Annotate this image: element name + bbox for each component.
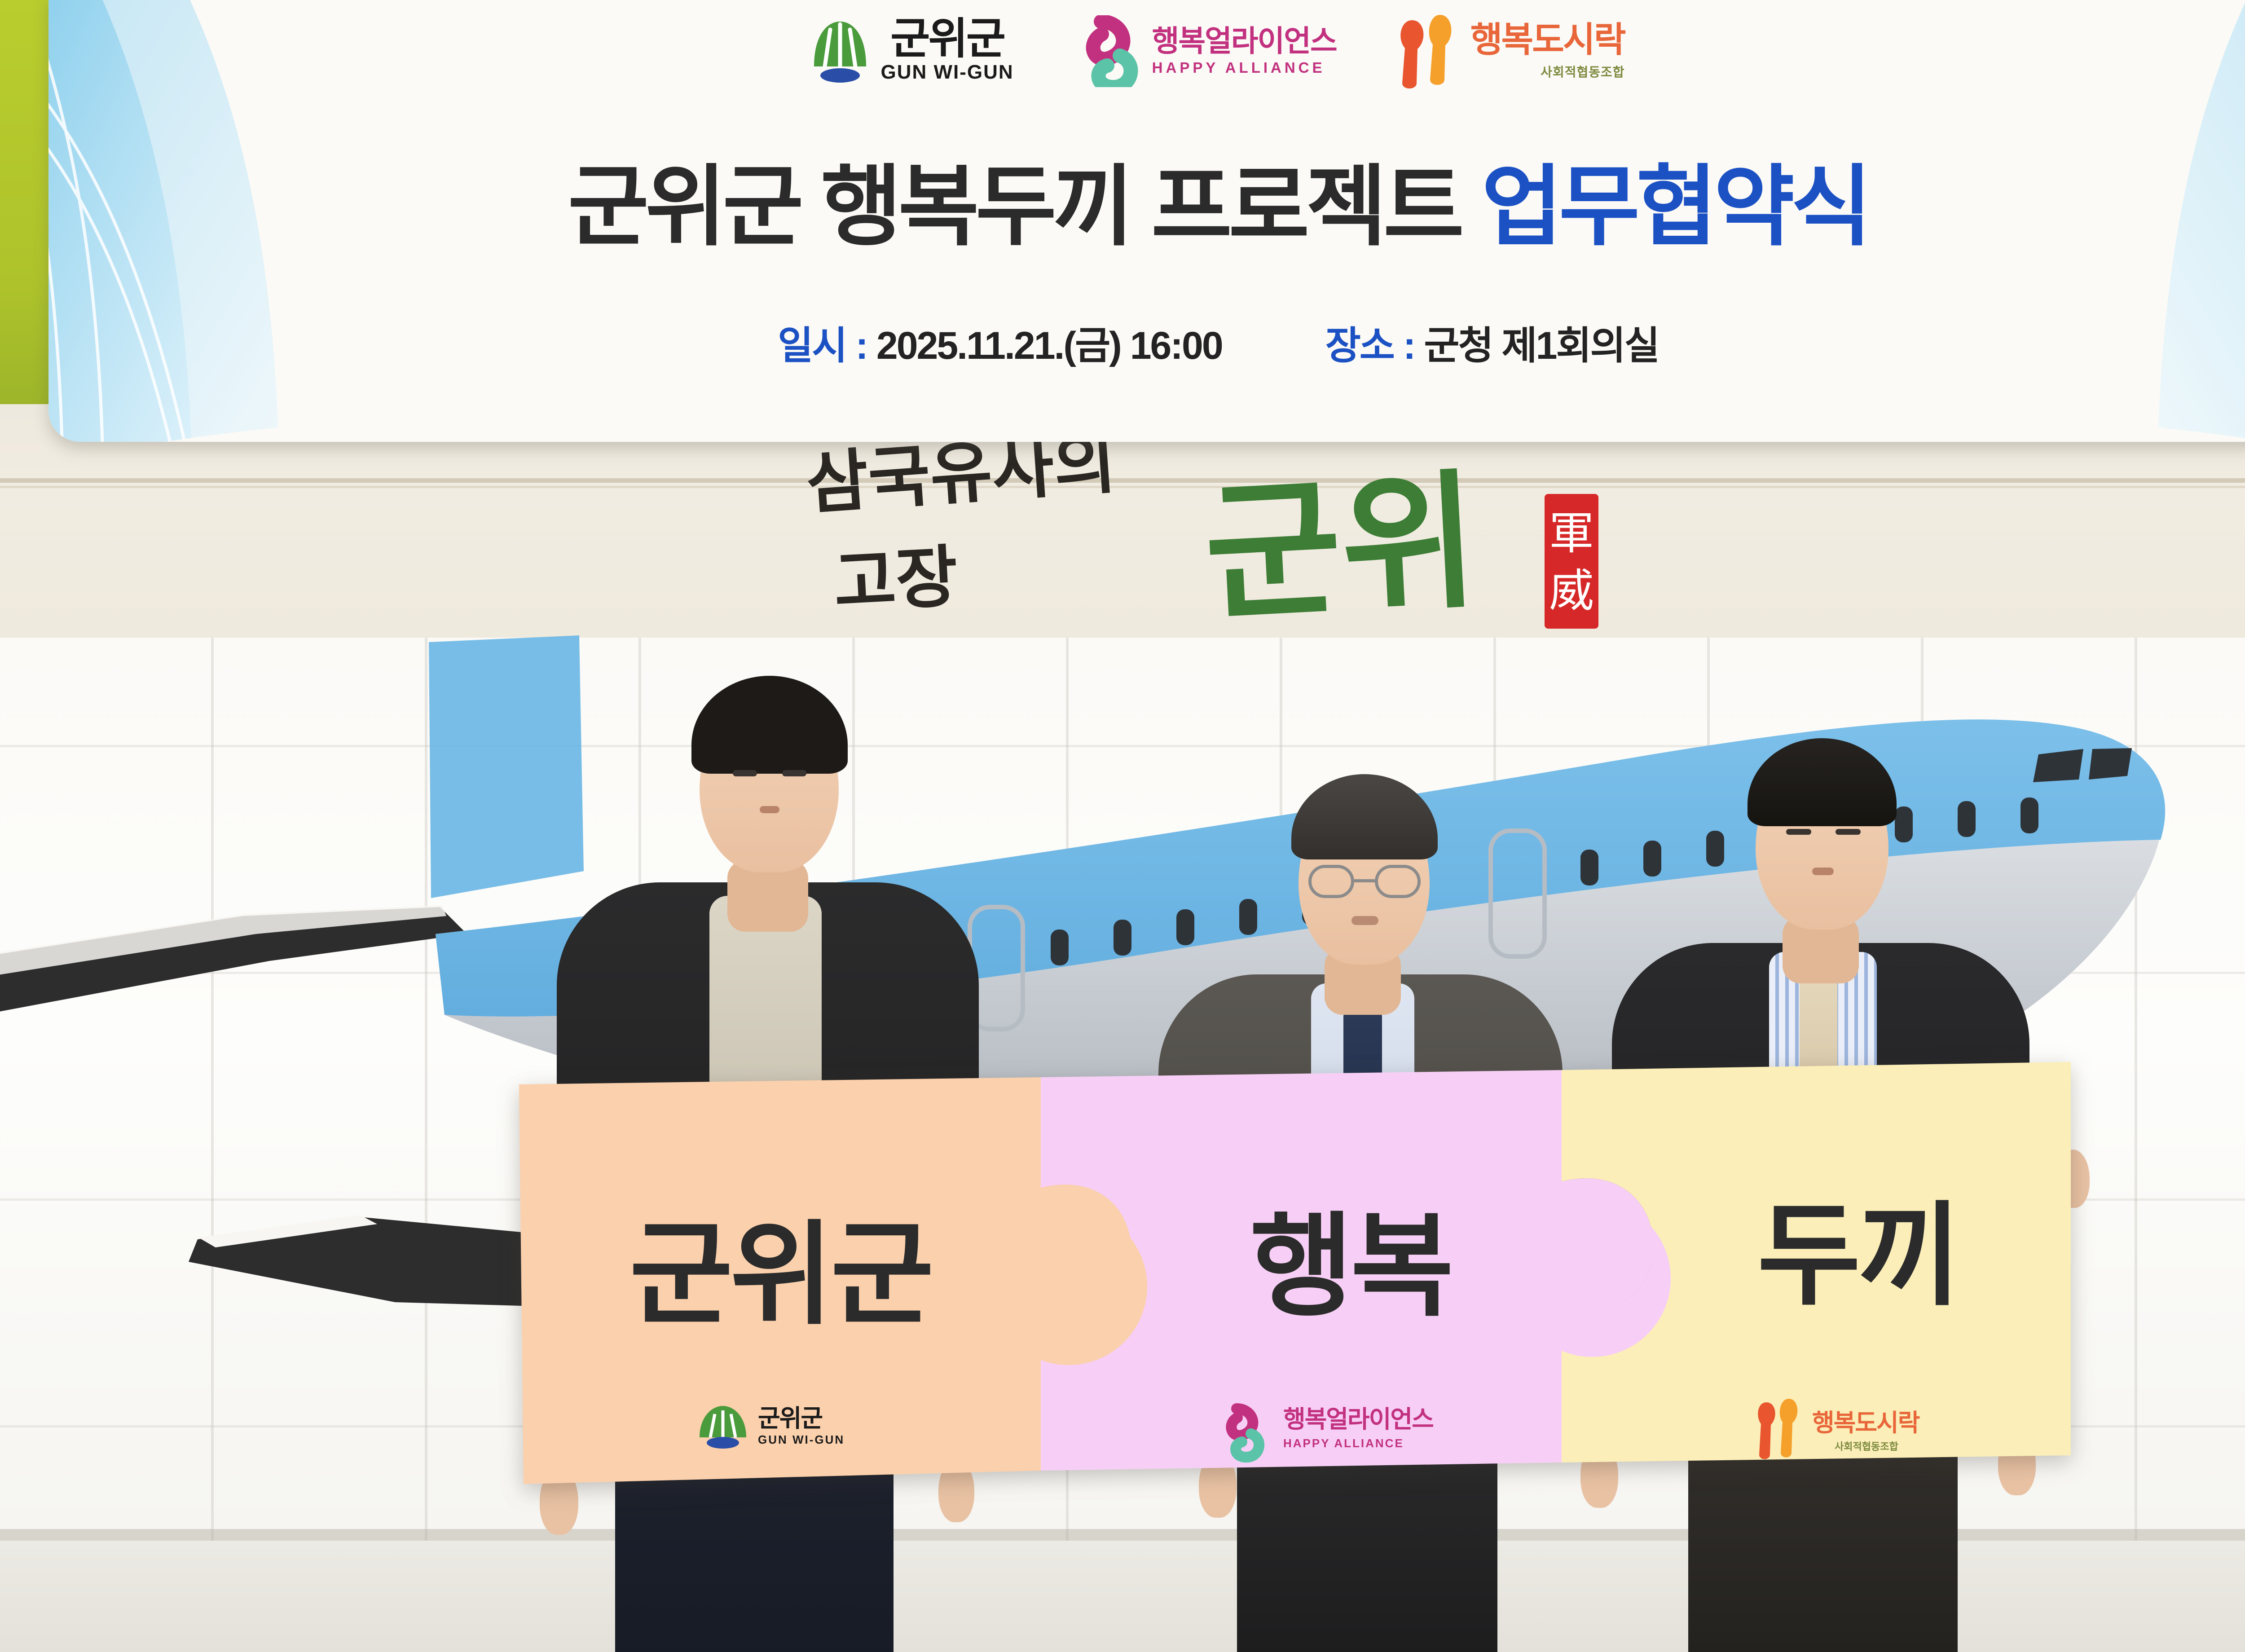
puzzle-word-1: 군위군 <box>629 1212 931 1337</box>
logo-happy-alliance: 행복얼라이언스 HAPPY ALLIANCE <box>1073 15 1337 87</box>
wall-calligraphy-art: 삼국유사의 고장 군위 軍 威 <box>804 427 1657 638</box>
glasses-icon <box>1308 865 1421 898</box>
banner-meta-venue-value: 군청 제1회의실 <box>1424 324 1658 367</box>
logo-alliance-en: HAPPY ALLIANCE <box>1152 59 1325 76</box>
puzzle-sign: 군위군 행복 두끼 군위군 GUN WI-GUN 행복얼라이언스 <box>515 1075 2073 1493</box>
svg-text:고장: 고장 <box>832 537 960 622</box>
puzzle-mini-logo-1-en: GUN WI-GUN <box>758 1433 845 1446</box>
banner-meta-venue: 장소 : 군청 제1회의실 <box>1325 314 1659 370</box>
svg-text:군위: 군위 <box>1201 453 1482 638</box>
puzzle-word-2: 행복 <box>1250 1204 1451 1329</box>
puzzle-word-3: 두끼 <box>1757 1193 1959 1318</box>
logo-dosirak-kr: 행복도시락 <box>1470 22 1625 57</box>
banner-title: 군위군 행복두끼 프로젝트 업무협약식 <box>48 136 2245 263</box>
event-backdrop-banner: 군위군 GUN WI-GUN 행복얼라이언스 HAPPY ALLIANCE <box>48 0 2245 442</box>
person-right-hair <box>1748 738 1897 826</box>
accent-wall-left <box>0 0 53 404</box>
logo-alliance-kr: 행복얼라이언스 <box>1152 26 1337 56</box>
logo-dosirak-sub: 사회적협동조합 <box>1541 62 1624 80</box>
person-center-hair <box>1291 774 1438 859</box>
banner-title-main: 군위군 행복두끼 프로젝트 <box>568 158 1461 256</box>
banner-logo-row: 군위군 GUN WI-GUN 행복얼라이언스 HAPPY ALLIANCE <box>48 3 2245 99</box>
puzzle-mini-logo-2-en: HAPPY ALLIANCE <box>1283 1436 1404 1450</box>
banner-meta-datetime: 일시 : 2025.11.21.(금) 16:00 <box>778 314 1222 370</box>
photo-scene: 삼국유사의 고장 군위 軍 威 <box>0 0 2245 1652</box>
banner-meta-datetime-label: 일시 : <box>778 324 867 367</box>
logo-gunwi-kr: 군위군 <box>890 18 1004 59</box>
logo-gunwi-gun: 군위군 GUN WI-GUN <box>811 18 1013 84</box>
person-left-hair <box>691 676 848 774</box>
puzzle-mini-logo-2-kr: 행복얼라이언스 <box>1283 1406 1433 1433</box>
banner-meta-venue-label: 장소 : <box>1325 324 1415 367</box>
banner-title-accent: 업무협약식 <box>1482 158 1869 256</box>
green-sprout-icon <box>811 20 869 83</box>
banner-bottom-curve <box>48 388 2245 442</box>
banner-meta-datetime-value: 2025.11.21.(금) 16:00 <box>876 324 1222 367</box>
puzzle-mini-logo-3-kr: 행복도시락 <box>1812 1410 1920 1436</box>
puzzle-mini-logo-3-sub: 사회적협동조합 <box>1835 1441 1898 1452</box>
puzzle-mini-logo-1-kr: 군위군 <box>758 1405 822 1432</box>
seal-stamp: 軍 威 <box>1545 494 1598 629</box>
spoon-fork-icon <box>1396 13 1459 89</box>
logo-happy-dosirak: 행복도시락 사회적협동조합 <box>1396 13 1625 89</box>
logo-gunwi-en: GUN WI-GUN <box>880 61 1013 84</box>
banner-meta-row: 일시 : 2025.11.21.(금) 16:00 장소 : 군청 제1회의실 <box>48 314 2245 370</box>
svg-text:軍: 軍 <box>1549 507 1594 559</box>
svg-text:威: 威 <box>1549 564 1594 617</box>
infinity-loop-icon <box>1073 15 1140 87</box>
